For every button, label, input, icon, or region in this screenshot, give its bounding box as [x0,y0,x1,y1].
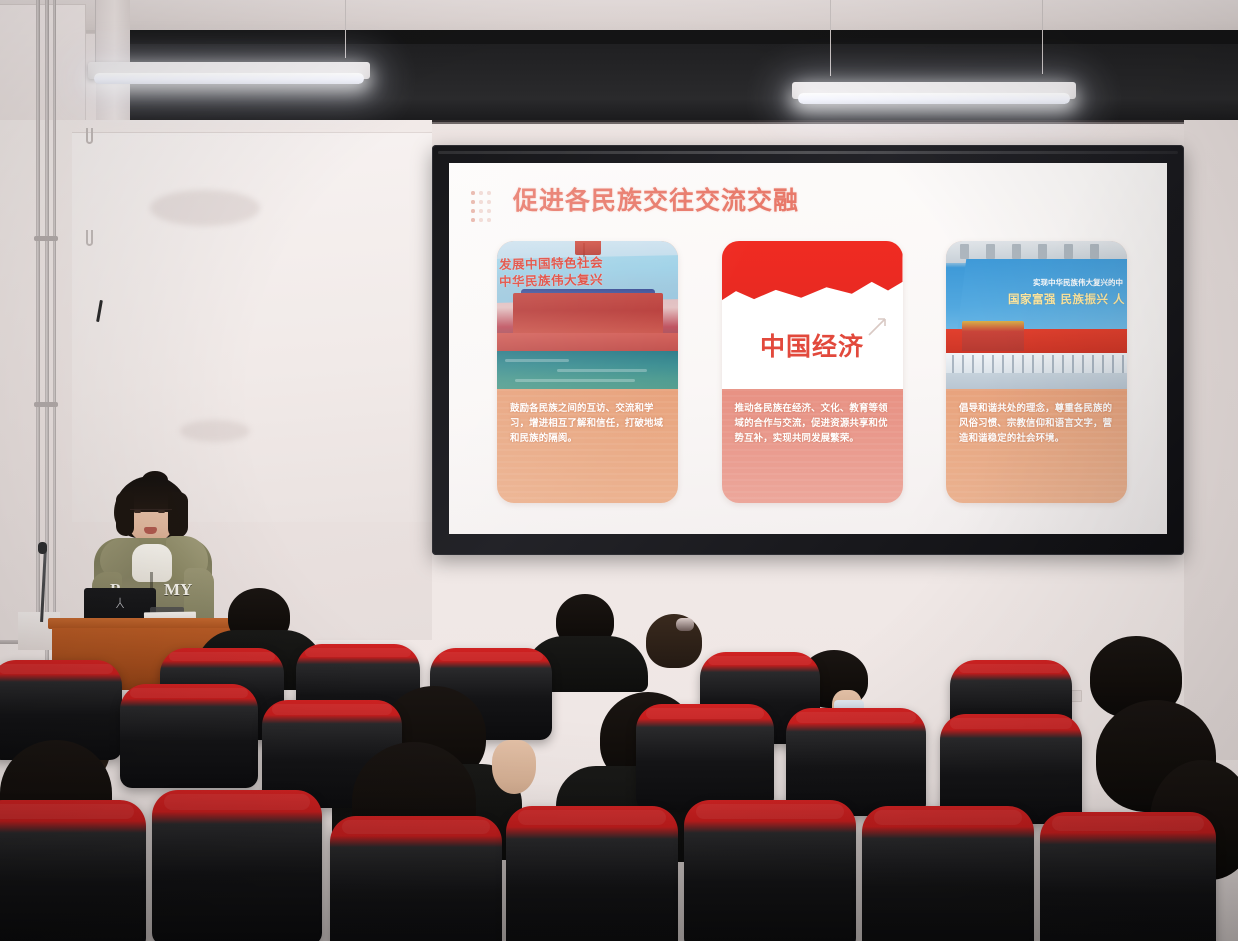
card-text: 推动各民族在经济、文化、教育等领域的合作与交流，促进资源共享和优势互补，实现共同… [735,401,890,446]
card-text: 倡导和谐共处的理念，尊重各民族的风俗习惯、宗教信仰和语言文字，营造和谐稳定的社会… [959,401,1114,446]
gate-wall [497,333,678,353]
wall-pipe [36,0,40,620]
wall-hook-icon [86,128,93,144]
lamp-wire [1042,0,1043,74]
jacket-letter-right: MY [164,580,192,600]
audience-seat[interactable] [330,816,502,941]
audience-seat[interactable] [862,806,1034,941]
card-body-exchange: 鼓励各民族之间的互访、交流和学习，增进相互了解和信任，打破地域和民族的隔阂。 [497,389,678,503]
lamp-wire [95,0,96,62]
ceiling [0,0,1238,34]
lamp-wire [345,0,346,58]
card-body-harmony: 倡导和谐共处的理念，尊重各民族的风俗习惯、宗教信仰和语言文字，营造和谐稳定的社会… [946,389,1127,503]
audience-seat[interactable] [0,800,146,941]
pipe-clip [34,236,58,241]
whiteboard [72,132,432,522]
tiananmen-gate [513,293,663,337]
billboard-line2: 国家富强 民族振兴 人 [976,291,1125,307]
red-torn-paper [722,241,903,307]
whiteboard-smudge [180,420,250,442]
slide-dots-decoration [471,191,493,225]
lamp-tube [798,93,1070,104]
laptop-logo: ⅄ [116,597,125,611]
fluorescent-lamp-left [88,62,370,79]
wave [505,359,569,362]
wave [557,369,647,372]
slide-card-economy: 中国经济 推动各民族在经济、文化、教育等领域的合作与交流，促进资源共享和优势互补… [722,241,903,503]
card-photo-billboard: 实现中华民族伟大复兴的中 国家富强 民族振兴 人 [946,241,1127,389]
projection-screen[interactable]: 促进各民族交往交流交融 发展中国特色社会 中华民族伟大复兴 [432,145,1184,555]
audience-seat[interactable] [120,684,258,788]
white-fence [946,353,1127,375]
audience-face [492,740,536,794]
slide-card-harmony: 实现中华民族伟大复兴的中 国家富强 民族振兴 人 [946,241,1127,503]
presentation-slide: 促进各民族交往交流交融 发展中国特色社会 中华民族伟大复兴 [449,163,1167,534]
card-text: 鼓励各民族之间的互访、交流和学习，增进相互了解和信任，打破地域和民族的隔阂。 [510,401,665,446]
audience-seat[interactable] [506,806,678,941]
lamp-tube [94,73,364,84]
microphone-icon [38,542,47,554]
slide-cards-row: 发展中国特色社会 中华民族伟大复兴 鼓励各民族之间的互访、交流和学习，增进相互了… [497,241,1127,511]
audience-seat[interactable] [684,800,856,941]
right-wall [1184,120,1238,760]
audience-seat[interactable] [152,790,322,941]
wave [515,379,635,382]
ground [946,373,1127,389]
national-emblem-icon [575,241,601,255]
eye [158,510,165,513]
whiteboard-smudge [150,190,260,226]
lamp-wire [830,0,831,76]
arrow-icon [867,315,889,337]
billboard-line1: 实现中华民族伟大复兴的中 [990,277,1123,288]
card-photo-economy: 中国经济 [722,241,903,389]
pipe-clip [34,402,58,407]
eye [134,510,141,513]
card-body-economy: 推动各民族在经济、文化、教育等领域的合作与交流，促进资源共享和优势互补，实现共同… [722,389,903,503]
card-photo-tiananmen: 发展中国特色社会 中华民族伟大复兴 [497,241,678,389]
slide-title: 促进各民族交往交流交融 [513,181,799,217]
wall-hook-icon [86,230,93,246]
audience-seat[interactable] [636,704,774,810]
mouth [144,527,157,534]
slide-card-exchange: 发展中国特色社会 中华民族伟大复兴 鼓励各民族之间的互访、交流和学习，增进相互了… [497,241,678,503]
fluorescent-lamp-right [792,82,1076,99]
tiananmen-gate-small [962,321,1024,351]
hair-tie [676,618,694,631]
audience-seat[interactable] [1040,812,1216,941]
upper-wall-dark-band-top [128,30,1238,44]
lecture-hall-scene: 促进各民族交往交流交融 发展中国特色社会 中华民族伟大复兴 [0,0,1238,941]
